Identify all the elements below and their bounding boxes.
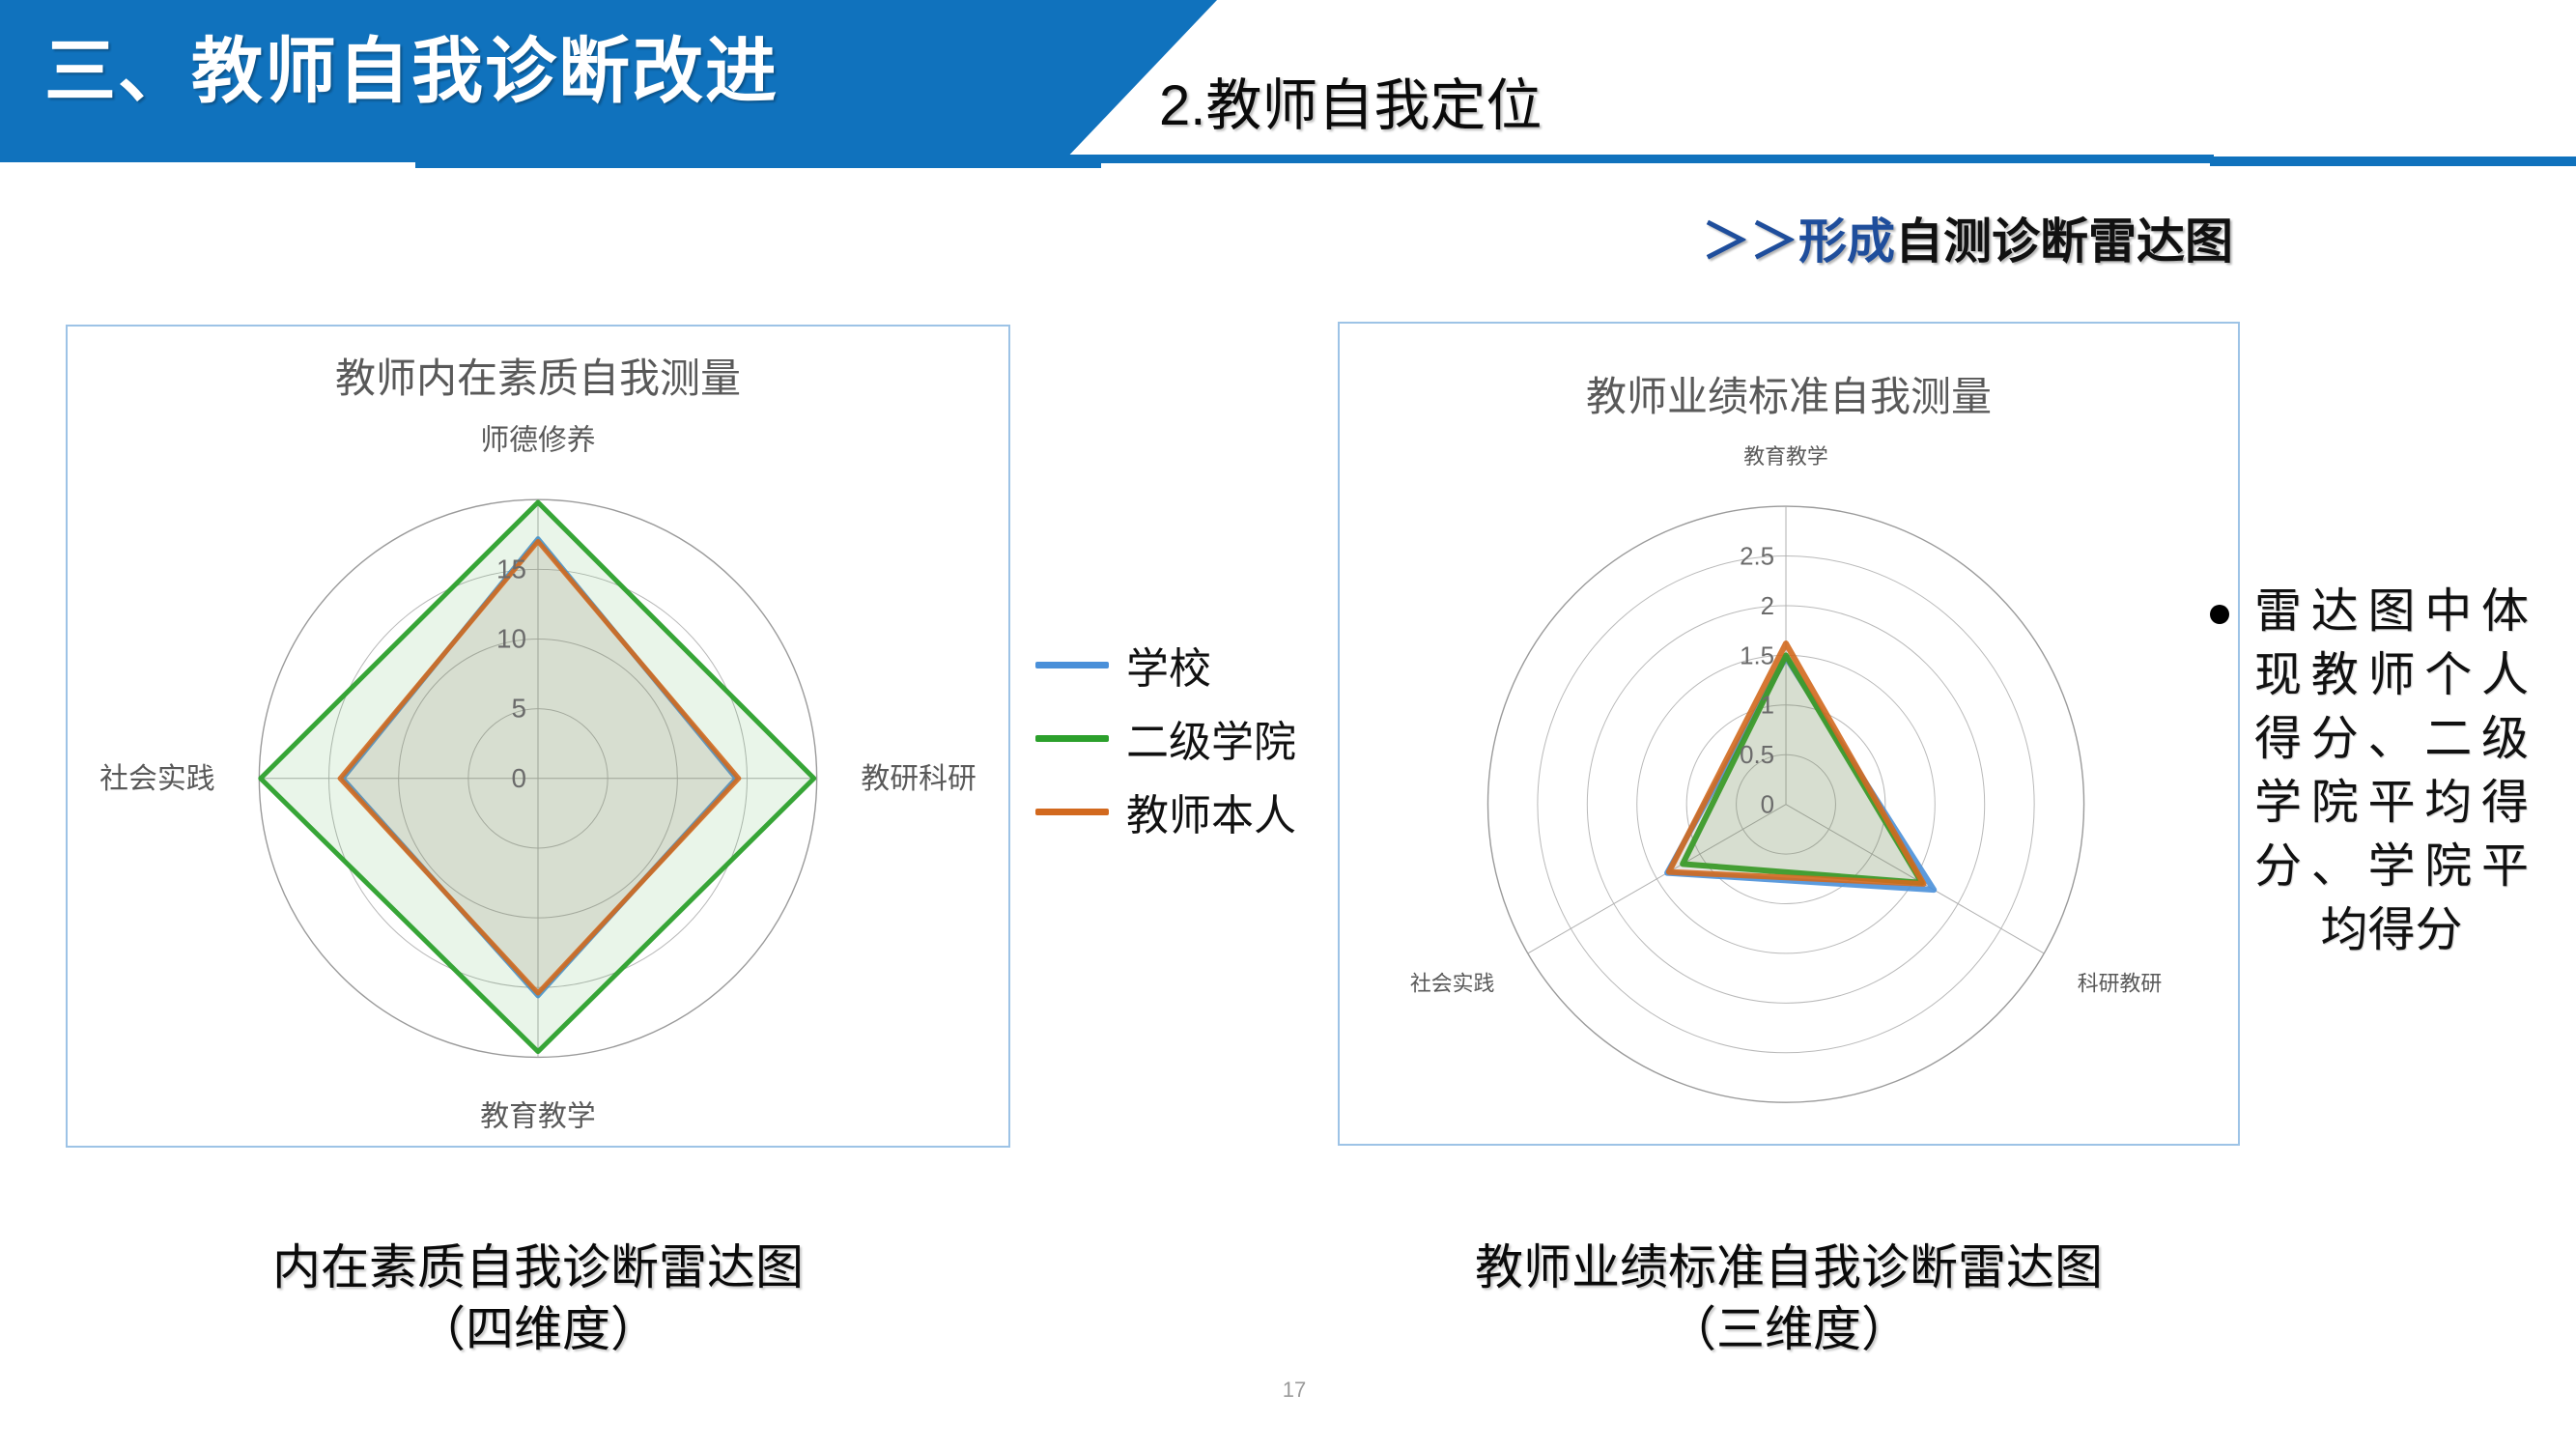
header-accent-bar <box>2210 156 2576 166</box>
svg-text:2.5: 2.5 <box>1740 543 1774 570</box>
caption-performance-line2: （三维度） <box>1338 1298 2240 1360</box>
legend-item-college: 二级学院 <box>1035 701 1316 775</box>
svg-text:0.5: 0.5 <box>1740 742 1774 769</box>
subtitle-prefix: ＞＞形成 <box>1702 214 1895 269</box>
svg-text:0: 0 <box>1761 792 1774 819</box>
bullet-text: 雷达图中体现教师个人得分、二级学院平均得分、学院平均得分 <box>2254 580 2529 962</box>
page-number: 17 <box>1256 1378 1333 1403</box>
svg-text:教育教学: 教育教学 <box>480 1101 595 1133</box>
legend-label-school: 学校 <box>1126 634 1211 696</box>
svg-text:教研科研: 教研科研 <box>861 763 976 795</box>
svg-text:10: 10 <box>496 623 526 653</box>
chart-legend: 学校 二级学院 教师本人 <box>1035 628 1316 848</box>
legend-swatch-college <box>1035 735 1109 742</box>
caption-performance-line1: 教师业绩标准自我诊断雷达图 <box>1338 1237 2240 1298</box>
caption-inner-quality: 内在素质自我诊断雷达图 （四维度） <box>66 1237 1010 1360</box>
chart-panel-inner-quality: 教师内在素质自我测量 051015师德修养教研科研教育教学社会实践 <box>66 325 1010 1148</box>
subtitle: ＞＞形成自测诊断雷达图 <box>1702 203 2233 272</box>
svg-text:师德修养: 师德修养 <box>480 424 595 456</box>
svg-text:1: 1 <box>1761 693 1774 720</box>
radar-chart-inner-quality: 051015师德修养教研科研教育教学社会实践 <box>68 327 1008 1146</box>
svg-text:15: 15 <box>496 554 526 583</box>
svg-text:0: 0 <box>512 763 527 793</box>
svg-text:社会实践: 社会实践 <box>1410 971 1495 995</box>
caption-inner-quality-line1: 内在素质自我诊断雷达图 <box>66 1237 1010 1298</box>
caption-inner-quality-line2: （四维度） <box>66 1298 1010 1360</box>
bullet-block: 雷达图中体现教师个人得分、二级学院平均得分、学院平均得分 <box>2210 580 2529 962</box>
chart-panel-performance: 教师业绩标准自我测量 00.511.522.5教育教学科研教研社会实践 <box>1338 322 2240 1146</box>
section-title: 2.教师自我定位 <box>1159 60 1542 141</box>
legend-item-school: 学校 <box>1035 628 1316 701</box>
radar-chart-performance: 00.511.522.5教育教学科研教研社会实践 <box>1340 324 2238 1144</box>
svg-text:社会实践: 社会实践 <box>99 763 214 795</box>
subtitle-rest: 自测诊断雷达图 <box>1895 214 2233 269</box>
legend-label-teacher: 教师本人 <box>1126 781 1296 842</box>
legend-swatch-school <box>1035 662 1109 668</box>
bullet-dot-icon <box>2210 605 2229 624</box>
legend-swatch-teacher <box>1035 809 1109 815</box>
svg-text:2: 2 <box>1761 593 1774 620</box>
section-divider <box>997 155 2214 163</box>
svg-text:教育教学: 教育教学 <box>1743 444 1828 469</box>
svg-text:科研教研: 科研教研 <box>2078 971 2163 995</box>
svg-text:5: 5 <box>512 694 527 724</box>
svg-text:1.5: 1.5 <box>1740 642 1774 669</box>
legend-item-teacher: 教师本人 <box>1035 775 1316 848</box>
caption-performance: 教师业绩标准自我诊断雷达图 （三维度） <box>1338 1237 2240 1360</box>
legend-label-college: 二级学院 <box>1126 707 1296 769</box>
page-title: 三、教师自我诊断改进 <box>44 14 1010 129</box>
